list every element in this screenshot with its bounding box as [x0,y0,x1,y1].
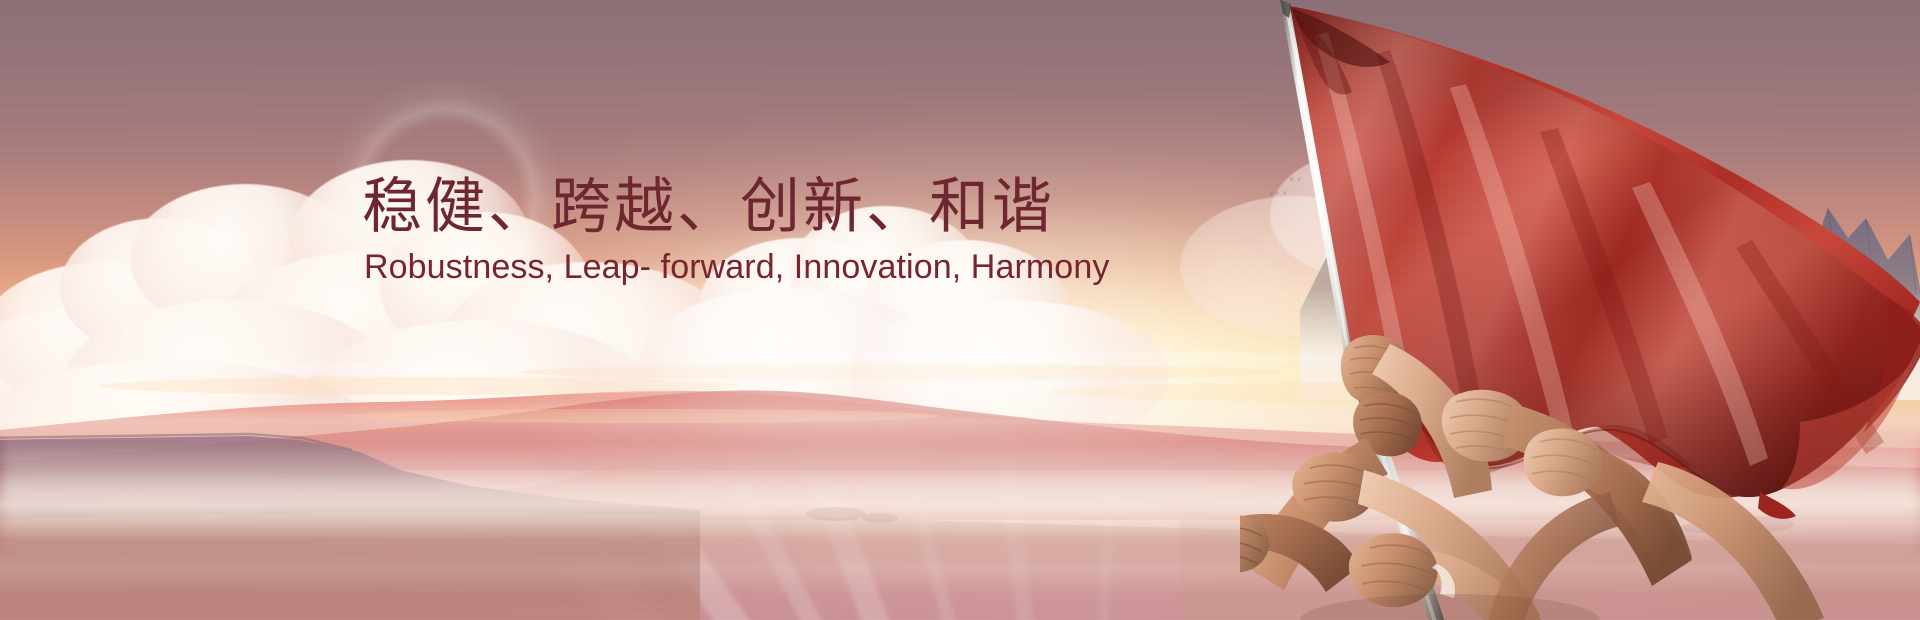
page-subtitle: Robustness, Leap- forward, Innovation, H… [364,249,1109,286]
values-banner: ᵛ ᵛ ᵛ ᵛ ᵛ [0,0,1920,620]
flag-and-arms-group [1240,0,1920,620]
headline-block: 稳健、跨越、创新、和谐 Robustness, Leap- forward, I… [362,172,1109,286]
arm-far-left [1240,514,1360,592]
page-title: 稳健、跨越、创新、和谐 [362,172,1109,243]
